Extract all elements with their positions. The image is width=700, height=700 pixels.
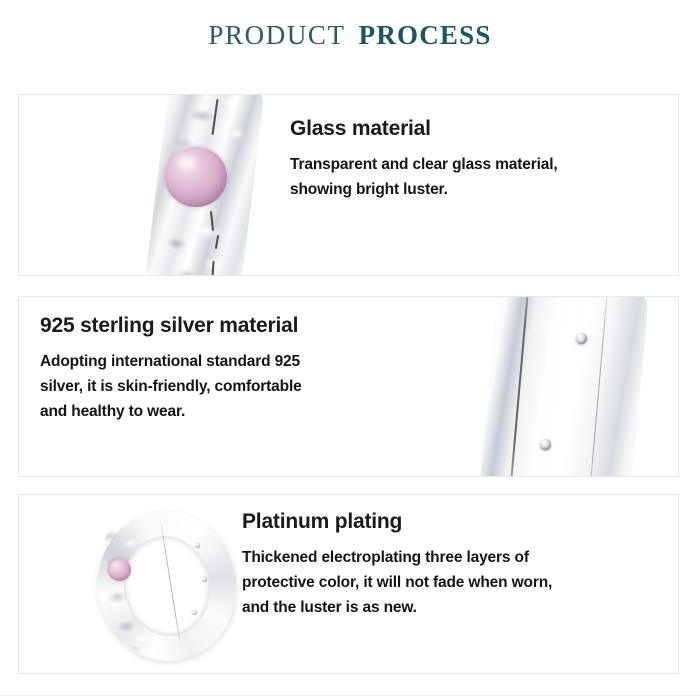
feature-card-925-sterling-silver-material: 925 sterling silver material Adopting in…: [18, 296, 679, 477]
feature-body-line: showing bright luster.: [290, 177, 558, 202]
ring-dot-accent: [192, 610, 197, 615]
feature-card-platinum-plating: Platinum plating Thickened electroplatin…: [18, 494, 679, 674]
feature-body-line: protective color, it will not fade when …: [242, 570, 552, 595]
ring-bead-accent: [576, 333, 587, 344]
page-title: PRODUCTPROCESS: [0, 20, 700, 51]
page-bottom-divider: [0, 695, 700, 696]
feature-body-line: and healthy to wear.: [40, 399, 302, 424]
ring-bead-accent: [540, 439, 551, 450]
page-title-bold: PROCESS: [359, 20, 492, 50]
feature-text-block: Platinum plating Thickened electroplatin…: [242, 510, 552, 620]
feature-body-line: Transparent and clear glass material,: [290, 152, 558, 177]
feature-heading: 925 sterling silver material: [40, 314, 302, 337]
feature-body-line: silver, it is skin-friendly, comfortable: [40, 374, 302, 399]
ring-full-three-quarter-view-image: [74, 497, 264, 674]
feature-heading: Platinum plating: [242, 510, 552, 533]
product-process-page: PRODUCTPROCESS Glass material Transparen…: [0, 0, 700, 700]
feature-body-line: Thickened electroplating three layers of: [242, 545, 552, 570]
ring-polished-band-beads-image: [466, 296, 679, 477]
feature-body-line: Adopting international standard 925: [40, 349, 302, 374]
pink-glass-cabochon: [165, 147, 227, 207]
pink-glass-cabochon: [108, 559, 131, 581]
ring-macro-pink-cabochon-image: [119, 94, 304, 276]
feature-body-line: and the luster is as new.: [242, 595, 552, 620]
ring-dot-accent: [195, 543, 200, 548]
feature-text-block: 925 sterling silver material Adopting in…: [40, 314, 302, 424]
page-title-regular: PRODUCT: [208, 20, 345, 50]
feature-text-block: Glass material Transparent and clear gla…: [290, 117, 558, 202]
feature-card-glass-material: Glass material Transparent and clear gla…: [18, 94, 679, 276]
ring-dot-accent: [202, 577, 207, 582]
feature-heading: Glass material: [290, 117, 558, 140]
